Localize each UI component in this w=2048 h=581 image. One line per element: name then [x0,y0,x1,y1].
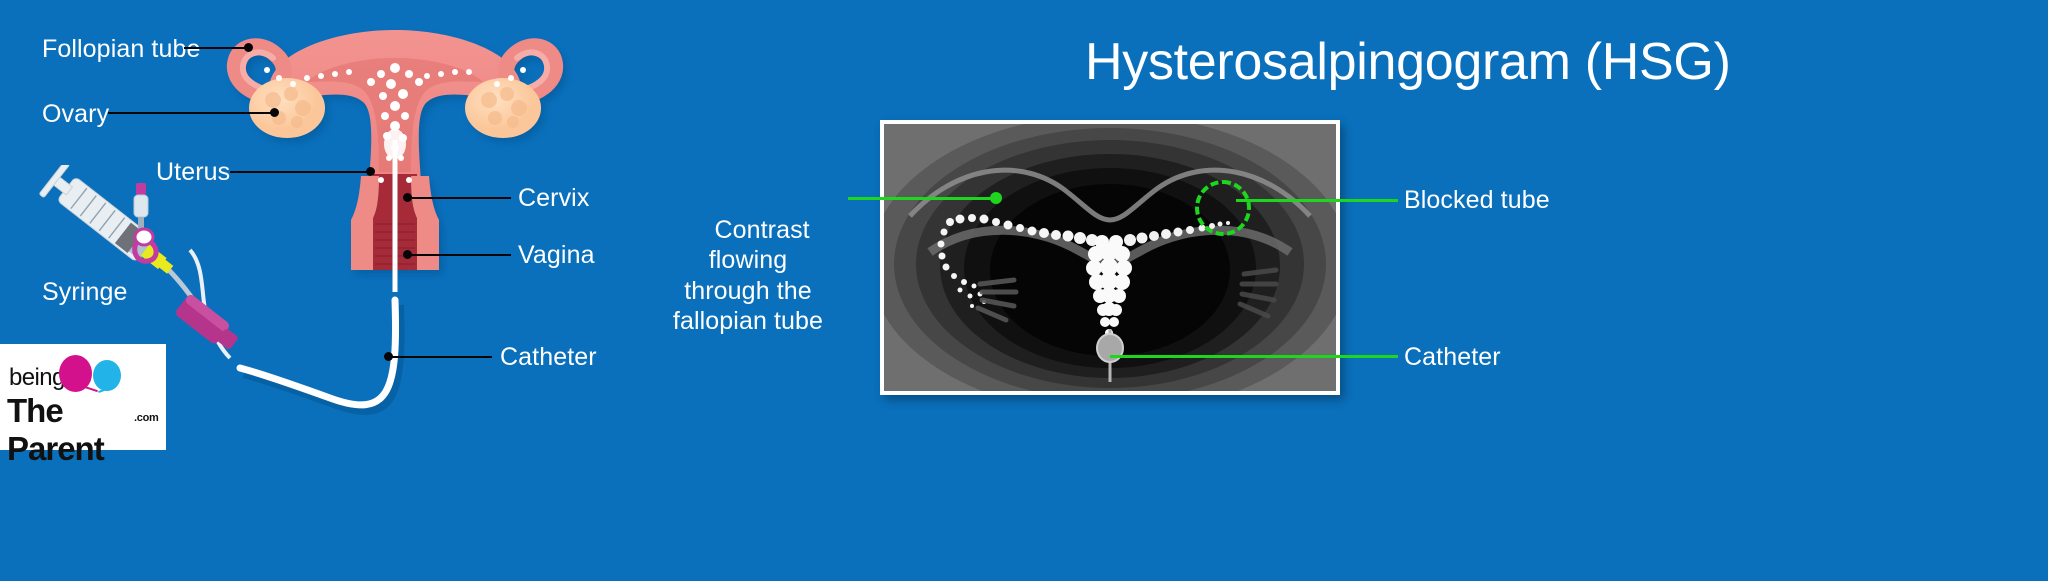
leader-contrast-flowing [848,197,996,200]
infographic-canvas: Hysterosalpingogram (HSG) [0,0,2048,581]
leader-vagina [409,254,511,256]
label-blocked-tube: Blocked tube [1404,185,1550,216]
label-fallopian-tube: Follopian tube [42,34,200,65]
leader-uterus [230,171,370,173]
leader-dot-fallopian-tube [244,43,253,52]
label-uterus: Uterus [156,157,230,188]
balloon-string-icon [84,386,98,392]
site-logo[interactable]: being The Parent .com [0,344,166,450]
page-title: Hysterosalpingogram (HSG) [1085,32,1731,92]
label-ovary: Ovary [42,99,109,130]
logo-word-the-parent: The Parent [7,392,166,468]
balloon-cyan-icon [93,360,121,391]
leader-blocked-tube [1236,199,1398,202]
leader-catheter-left [390,356,492,358]
label-catheter-right: Catheter [1404,342,1501,373]
label-vagina: Vagina [518,240,595,271]
blocked-tube-highlight-circle [1195,180,1251,236]
logo-suffix-dotcom: .com [134,412,158,424]
label-cervix: Cervix [518,183,589,214]
label-syringe: Syringe [42,277,127,308]
leader-ovary [108,112,274,114]
leader-dot-contrast-flowing [990,192,1002,204]
leader-dot-uterus [366,167,375,176]
leader-cervix [409,197,511,199]
label-contrast-flowing: Contrast flowing through the fallopian t… [655,184,841,367]
leader-dot-ovary [270,108,279,117]
label-catheter-left: Catheter [500,342,597,373]
logo-word-being: being [9,364,65,392]
label-contrast-flowing-text: Contrast flowing through the fallopian t… [673,216,823,336]
xray-frame [880,120,1340,395]
leader-catheter-right [1110,355,1398,358]
leader-fallopian-tube [184,47,248,49]
xray-image [884,124,1336,391]
